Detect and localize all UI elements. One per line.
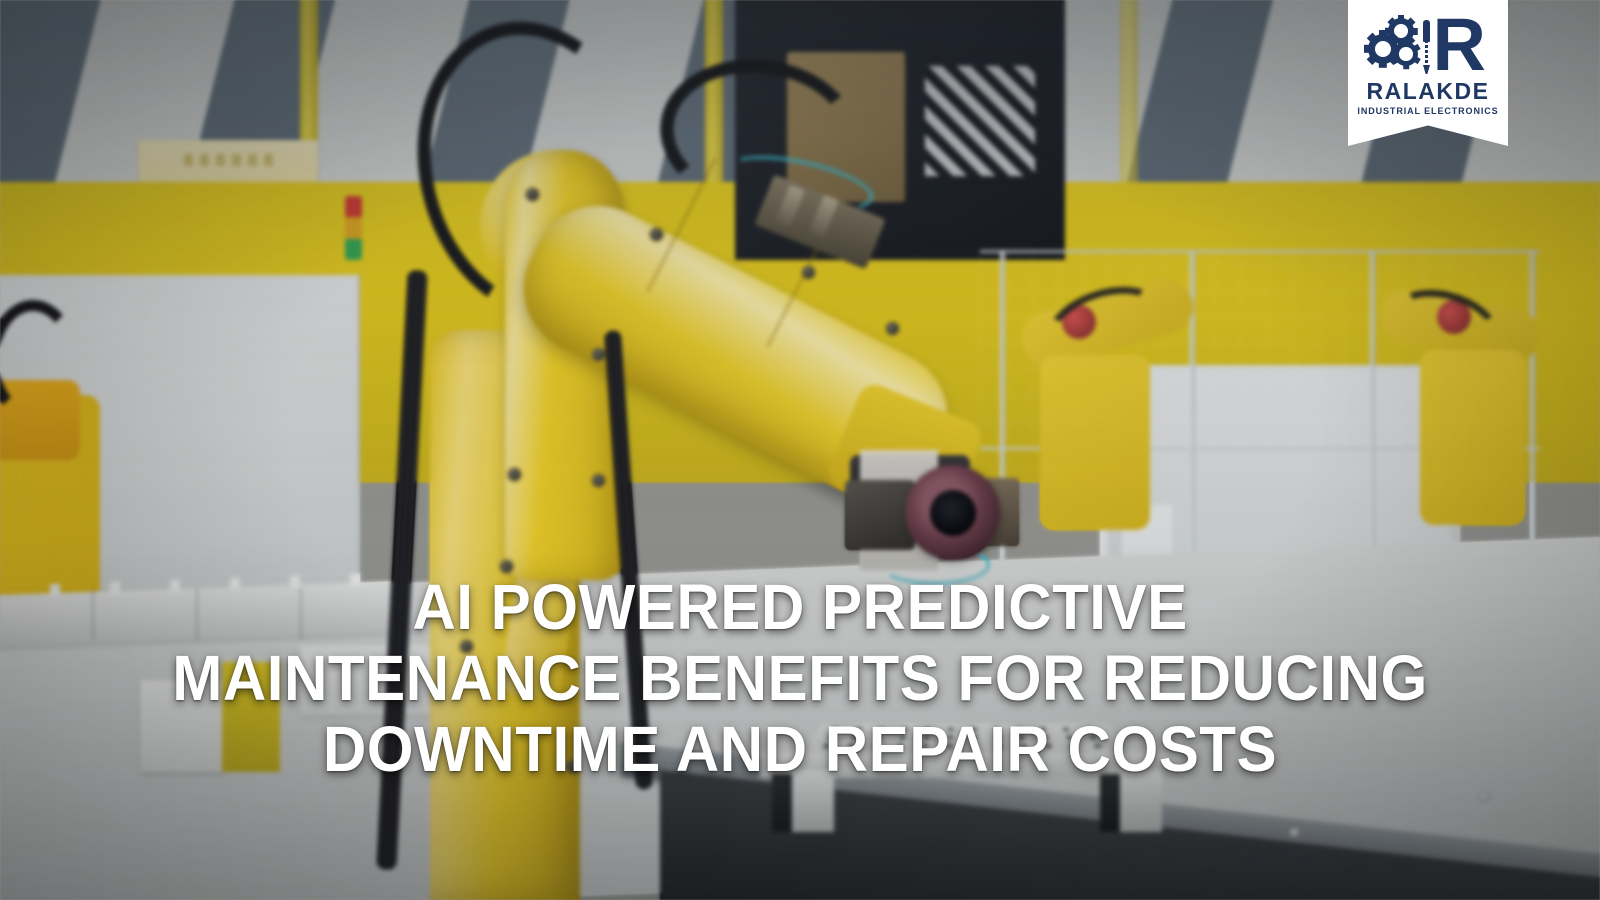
- logo-mark: R: [1366, 14, 1490, 76]
- hero-banner: R RALAKDE INDUSTRIAL ELECTRONICS AI POWE…: [0, 0, 1600, 900]
- logo-tagline: INDUSTRIAL ELECTRONICS: [1357, 105, 1498, 117]
- headline-line-2: MAINTENANCE BENEFITS FOR REDUCING: [86, 643, 1515, 714]
- headline-line-1: AI POWERED PREDICTIVE: [86, 572, 1515, 643]
- screwdriver-icon: [1422, 20, 1431, 74]
- brand-logo-panel[interactable]: R RALAKDE INDUSTRIAL ELECTRONICS: [1348, 0, 1508, 146]
- headline-line-3: DOWNTIME AND REPAIR COSTS: [86, 714, 1515, 785]
- gear-icon: [1394, 42, 1418, 66]
- page-title: AI POWERED PREDICTIVE MAINTENANCE BENEFI…: [0, 572, 1600, 785]
- logo-letter-r: R: [1433, 14, 1484, 76]
